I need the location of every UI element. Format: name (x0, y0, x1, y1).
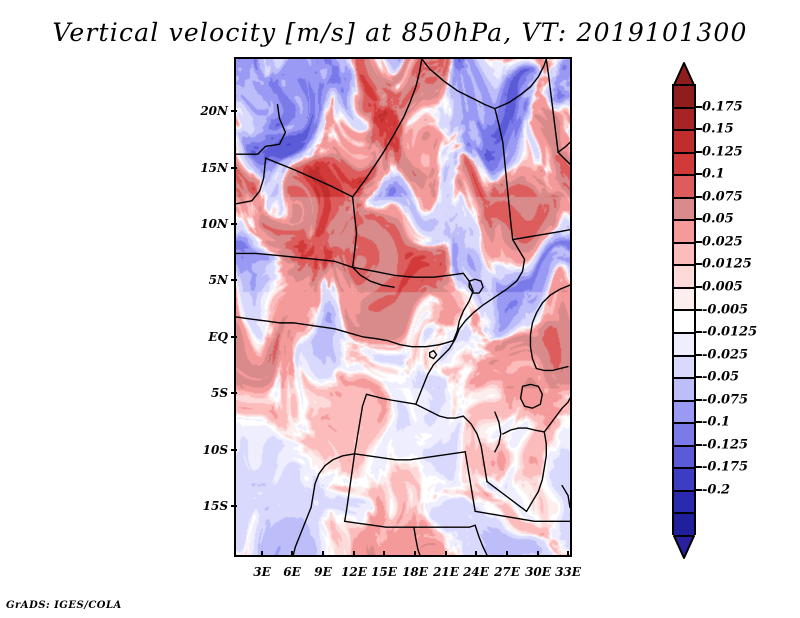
x-axis-tick-24E (475, 551, 477, 557)
colorbar-label: -0.2 (702, 482, 730, 497)
colorbar-tick (696, 173, 702, 175)
colorbar-label: -0.025 (702, 347, 748, 362)
colorbar-tick (696, 218, 702, 220)
colorbar-label: 0.0125 (702, 257, 752, 272)
colorbar-tick (696, 286, 702, 288)
colorbar-label: -0.0125 (702, 325, 757, 340)
colorbar-band (674, 402, 694, 425)
colorbar-tick (696, 309, 702, 311)
colorbar-band (674, 469, 694, 492)
colorbar-label: 0.075 (702, 189, 743, 204)
y-axis-label-20N: 20N (194, 104, 228, 118)
colorbar-label: -0.175 (702, 460, 748, 475)
x-axis-tick-33E (567, 551, 569, 557)
colorbar-band (674, 86, 694, 109)
x-axis-label-6E: 6E (283, 565, 301, 579)
colorbar-label: -0.005 (702, 302, 748, 317)
y-axis-tick-10N (231, 223, 237, 225)
colorbar-tick (696, 196, 702, 198)
colorbar-high-arrow-icon (672, 62, 696, 86)
colorbar-tick (696, 128, 702, 130)
colorbar-band (674, 447, 694, 470)
y-axis-tick-10S (231, 449, 237, 451)
colorbar-tick (696, 466, 702, 468)
y-axis-label-10S: 10S (194, 443, 228, 457)
y-axis-tick-15S (231, 505, 237, 507)
colorbar-band (674, 244, 694, 267)
colorbar-tick (696, 489, 702, 491)
x-axis-tick-21E (445, 551, 447, 557)
colorbar-label: 0.005 (702, 279, 743, 294)
y-axis-tick-EQ (231, 336, 237, 338)
colorbar-label: -0.075 (702, 392, 748, 407)
map-plot-area (234, 57, 572, 557)
x-axis-tick-30E (537, 551, 539, 557)
colorbar-band (674, 379, 694, 402)
colorbar-bands (672, 84, 696, 535)
x-axis-tick-15E (383, 551, 385, 557)
colorbar-label: 0.05 (702, 212, 734, 227)
x-axis-label-21E: 21E (433, 565, 459, 579)
colorbar-label: -0.05 (702, 370, 739, 385)
colorbar-band (674, 289, 694, 312)
colorbar-label: 0.15 (702, 122, 734, 137)
colorbar-band (674, 266, 694, 289)
page-title: Vertical velocity [m/s] at 850hPa, VT: 2… (0, 18, 800, 47)
x-axis-tick-27E (506, 551, 508, 557)
x-axis-label-24E: 24E (463, 565, 489, 579)
colorbar-tick (696, 421, 702, 423)
colorbar-tick (696, 331, 702, 333)
colorbar-label: 0.025 (702, 234, 743, 249)
y-axis-label-5S: 5S (194, 386, 228, 400)
x-axis-label-9E: 9E (314, 565, 332, 579)
x-axis-label-15E: 15E (371, 565, 397, 579)
y-axis-label-EQ: EQ (194, 330, 228, 344)
x-axis-label-12E: 12E (341, 565, 367, 579)
colorbar-band (674, 334, 694, 357)
colorbar-tick (696, 444, 702, 446)
colorbar-label: 0.1 (702, 167, 725, 182)
colorbar-band (674, 199, 694, 222)
x-axis-label-30E: 30E (525, 565, 551, 579)
colorbar-band (674, 109, 694, 132)
y-axis-tick-5N (231, 279, 237, 281)
x-axis-label-3E: 3E (253, 565, 271, 579)
colorbar-band (674, 154, 694, 177)
x-axis-tick-3E (261, 551, 263, 557)
y-axis-tick-20N (231, 110, 237, 112)
colorbar-band (674, 424, 694, 447)
x-axis-tick-12E (353, 551, 355, 557)
x-axis-label-27E: 27E (494, 565, 520, 579)
colorbar-tick (696, 241, 702, 243)
colorbar-low-arrow-icon (672, 535, 696, 559)
colorbar-band (674, 514, 694, 537)
y-axis-tick-15N (231, 167, 237, 169)
colorbar-tick (696, 354, 702, 356)
x-axis-tick-6E (291, 551, 293, 557)
x-axis-label-33E: 33E (555, 565, 581, 579)
y-axis-label-15N: 15N (194, 161, 228, 175)
colorbar-tick (696, 106, 702, 108)
colorbar: 0.1750.150.1250.10.0750.050.0250.01250.0… (672, 62, 696, 557)
colorbar-label: 0.175 (702, 99, 743, 114)
colorbar-label: -0.125 (702, 437, 748, 452)
y-axis-label-10N: 10N (194, 217, 228, 231)
colorbar-tick (696, 399, 702, 401)
y-axis-tick-5S (231, 392, 237, 394)
y-axis-label-15S: 15S (194, 499, 228, 513)
y-axis-label-5N: 5N (194, 273, 228, 287)
colorbar-tick (696, 376, 702, 378)
colorbar-band (674, 176, 694, 199)
x-axis-tick-18E (414, 551, 416, 557)
grads-credit: GrADS: IGES/COLA (6, 600, 122, 611)
colorbar-band (674, 221, 694, 244)
colorbar-band (674, 311, 694, 334)
x-axis-label-18E: 18E (402, 565, 428, 579)
colorbar-tick (696, 151, 702, 153)
colorbar-label: -0.1 (702, 415, 730, 430)
colorbar-tick (696, 263, 702, 265)
x-axis-tick-9E (322, 551, 324, 557)
colorbar-label: 0.125 (702, 144, 743, 159)
colorbar-band (674, 492, 694, 515)
colorbar-band (674, 131, 694, 154)
vertical-velocity-heatmap (236, 59, 570, 555)
colorbar-band (674, 357, 694, 380)
